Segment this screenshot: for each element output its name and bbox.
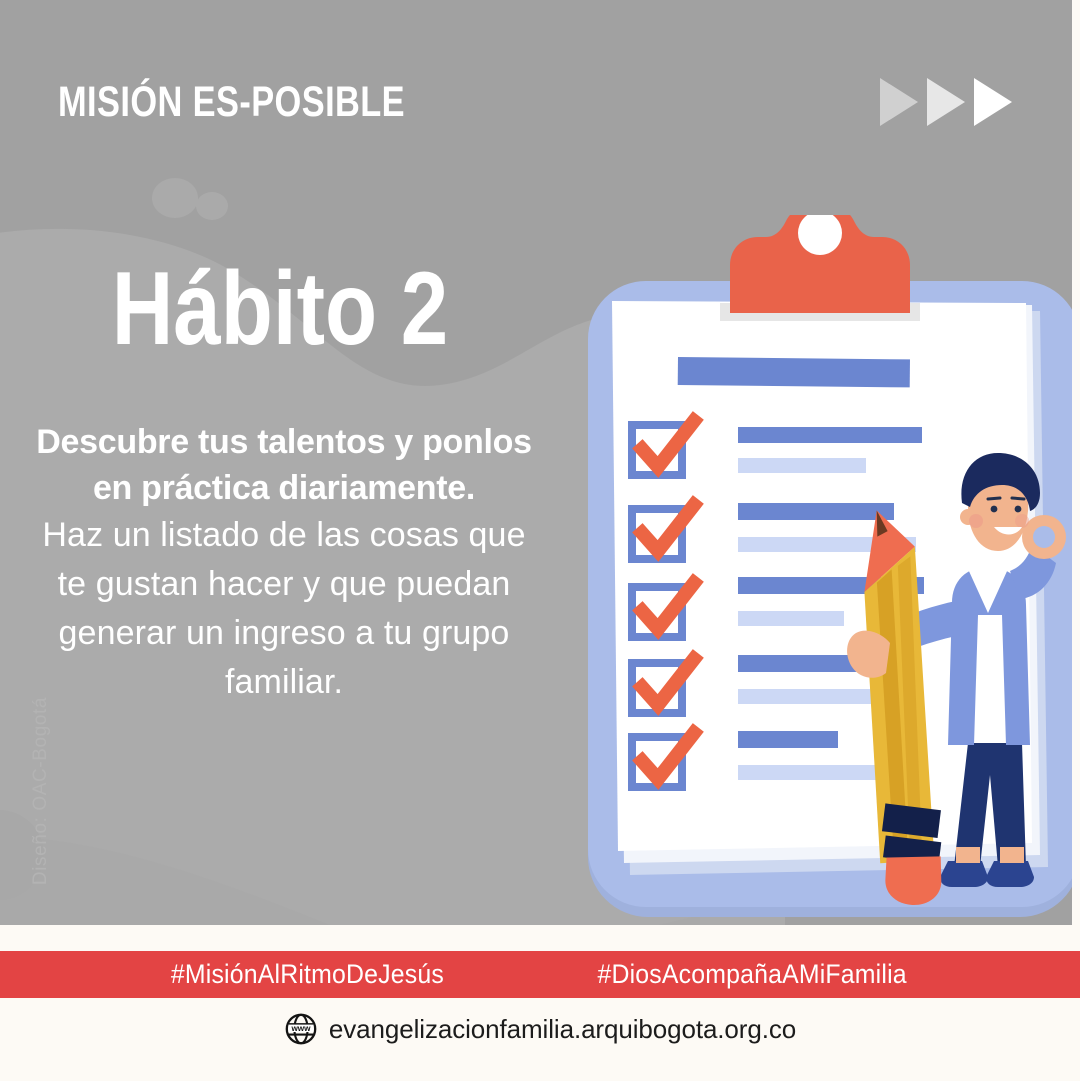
clipboard-checklist-with-man-illustration	[570, 215, 1080, 925]
svg-text:www: www	[290, 1024, 311, 1033]
hashtag-band: #MisiónAlRitmoDeJesús #DiosAcompañaAMiFa…	[0, 951, 1080, 998]
website-row[interactable]: www evangelizacionfamilia.arquibogota.or…	[0, 1005, 1080, 1053]
background-dot-small	[196, 192, 228, 220]
background-dot-large	[152, 178, 198, 218]
play-arrow-icon-3	[974, 78, 1012, 126]
habit-title: Hábito 2	[50, 257, 509, 361]
poster: MISIÓN ES-POSIBLE Hábito 2 Descubre tus …	[0, 0, 1080, 1081]
design-credit: Diseño: OAC-Bogotá	[30, 686, 52, 896]
www-globe-icon: www	[284, 1012, 318, 1046]
habit-description-bold: Descubre tus talentos y ponlos en prácti…	[34, 420, 534, 511]
clipboard-clip-icon	[730, 215, 910, 311]
brand-title: MISIÓN ES-POSIBLE	[58, 78, 405, 127]
habit-description: Descubre tus talentos y ponlos en prácti…	[34, 420, 534, 707]
hashtag-list: #MisiónAlRitmoDeJesús #DiosAcompañaAMiFa…	[159, 959, 920, 990]
habit-description-light: Haz un listado de las cosas que te gusta…	[34, 511, 534, 707]
poster-canvas: MISIÓN ES-POSIBLE Hábito 2 Descubre tus …	[0, 0, 1080, 925]
hashtag-item: #MisiónAlRitmoDeJesús	[171, 959, 444, 990]
canvas-right-edge	[1072, 0, 1080, 925]
play-arrow-icon-2	[927, 78, 965, 126]
triple-play-arrow-icon	[880, 78, 1012, 126]
play-arrow-icon-1	[880, 78, 918, 126]
website-url[interactable]: evangelizacionfamilia.arquibogota.org.co	[329, 1014, 796, 1045]
hashtag-item: #DiosAcompañaAMiFamilia	[598, 959, 907, 990]
